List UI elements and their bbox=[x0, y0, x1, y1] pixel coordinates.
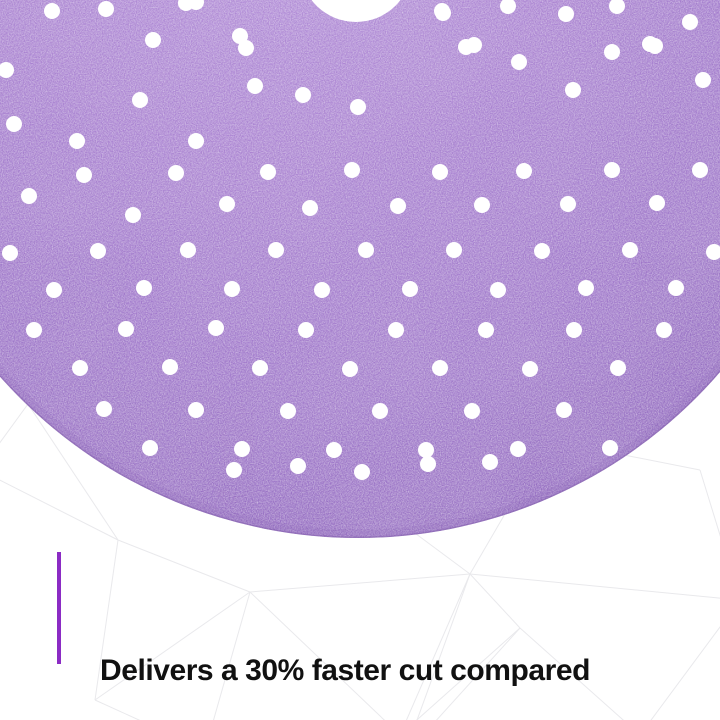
mesh-edge bbox=[0, 404, 28, 470]
mesh-edge bbox=[446, 72, 640, 100]
mesh-edge bbox=[640, 600, 720, 720]
mesh-edge bbox=[548, 440, 700, 470]
mesh-edge bbox=[0, 470, 118, 540]
mesh-edge bbox=[28, 404, 330, 470]
mesh-edge bbox=[260, 8, 446, 72]
caption-text: Delivers a 30% faster cut compared to ot… bbox=[100, 558, 590, 720]
mesh-edge bbox=[700, 470, 720, 600]
mesh-edge bbox=[8, 120, 28, 404]
mesh-edge bbox=[260, 8, 330, 470]
caption-line-1: Delivers a 30% faster cut compared bbox=[100, 648, 590, 693]
product-feature-card: Delivers a 30% faster cut compared to ot… bbox=[0, 0, 720, 720]
mesh-edge bbox=[28, 404, 118, 540]
caption-block: Delivers a 30% faster cut compared to ot… bbox=[57, 552, 590, 720]
purple-accent-bar bbox=[57, 552, 61, 664]
mesh-edge bbox=[640, 100, 720, 250]
